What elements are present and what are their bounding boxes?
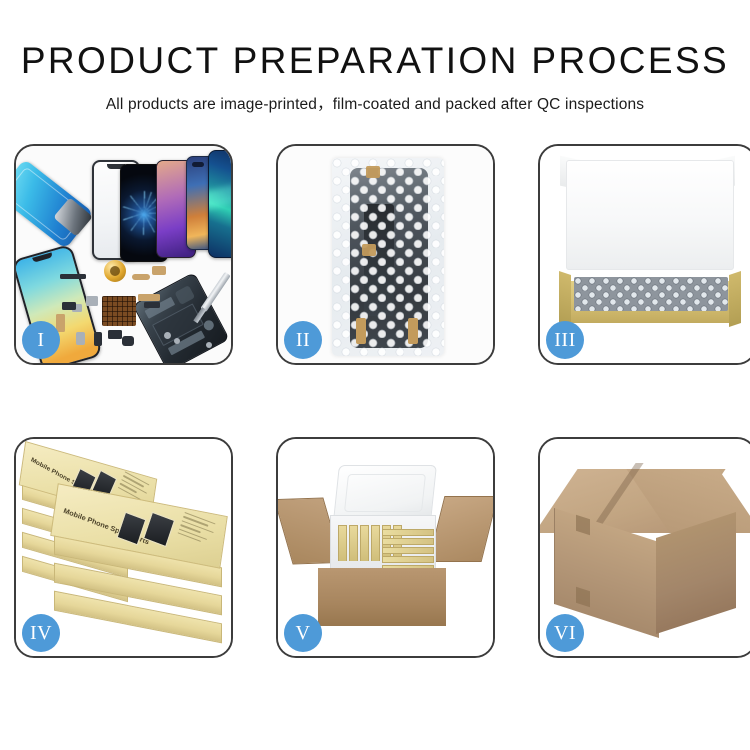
step-panel-6[interactable]: VI: [538, 437, 750, 658]
bracket-a: [86, 296, 98, 306]
step-badge-6: VI: [546, 614, 584, 652]
bubble-wrapped-contents: [574, 277, 728, 311]
button-set: [122, 336, 134, 346]
step-panel-5[interactable]: V: [276, 437, 495, 658]
earpiece-mesh: [60, 274, 86, 279]
screw-a: [164, 332, 171, 339]
step-panel-2[interactable]: II: [276, 144, 495, 365]
flex-cable-c: [138, 294, 160, 301]
bubble-wrap-bag: [332, 158, 444, 356]
step-badge-5: V: [284, 614, 322, 652]
page-title: PRODUCT PREPARATION PROCESS: [0, 0, 750, 81]
screw-c: [206, 342, 212, 348]
sim-tray: [94, 332, 102, 346]
screw-b: [174, 338, 180, 344]
logic-board-chip: [102, 296, 136, 326]
step-badge-4: IV: [22, 614, 60, 652]
connector-strip: [144, 302, 160, 308]
box-text-lines-front: [177, 512, 220, 549]
bubble-texture: [332, 158, 444, 356]
page-subtitle: All products are image-printed，film-coat…: [0, 81, 750, 114]
blue-adhesive-film: [14, 159, 94, 249]
camera-lens: [76, 332, 85, 345]
step-panel-3[interactable]: III: [538, 144, 750, 365]
tape-middle: [362, 244, 376, 256]
flex-cable-left: [356, 318, 366, 344]
speaker-module: [104, 260, 126, 282]
flex-cable-a: [132, 274, 150, 280]
vibrator-motor: [108, 330, 122, 339]
phone-teal-wave: [208, 150, 233, 258]
step-panel-1[interactable]: I: [14, 144, 233, 365]
step-badge-3: III: [546, 321, 584, 359]
camera-pill: [192, 162, 204, 167]
carton-body: [318, 568, 446, 626]
retail-boxes-flat: [382, 529, 434, 561]
carton-flap-right: [428, 496, 495, 562]
flex-cable-right: [408, 318, 418, 344]
step-badge-2: II: [284, 321, 322, 359]
flex-cable-b: [152, 266, 166, 275]
shield-can: [62, 302, 76, 310]
step-panel-4[interactable]: Mobile Phone Spare Parts Mobile Phone Sp…: [14, 437, 233, 658]
process-step-grid: I II III: [14, 144, 737, 679]
step-badge-1: I: [22, 321, 60, 359]
tape-top: [366, 166, 380, 178]
foam-box-lid: [333, 465, 437, 521]
page-header: PRODUCT PREPARATION PROCESS All products…: [0, 0, 750, 114]
antenna-flex: [56, 314, 65, 332]
notch-shape: [32, 252, 53, 262]
white-foam-liner: [566, 160, 734, 270]
